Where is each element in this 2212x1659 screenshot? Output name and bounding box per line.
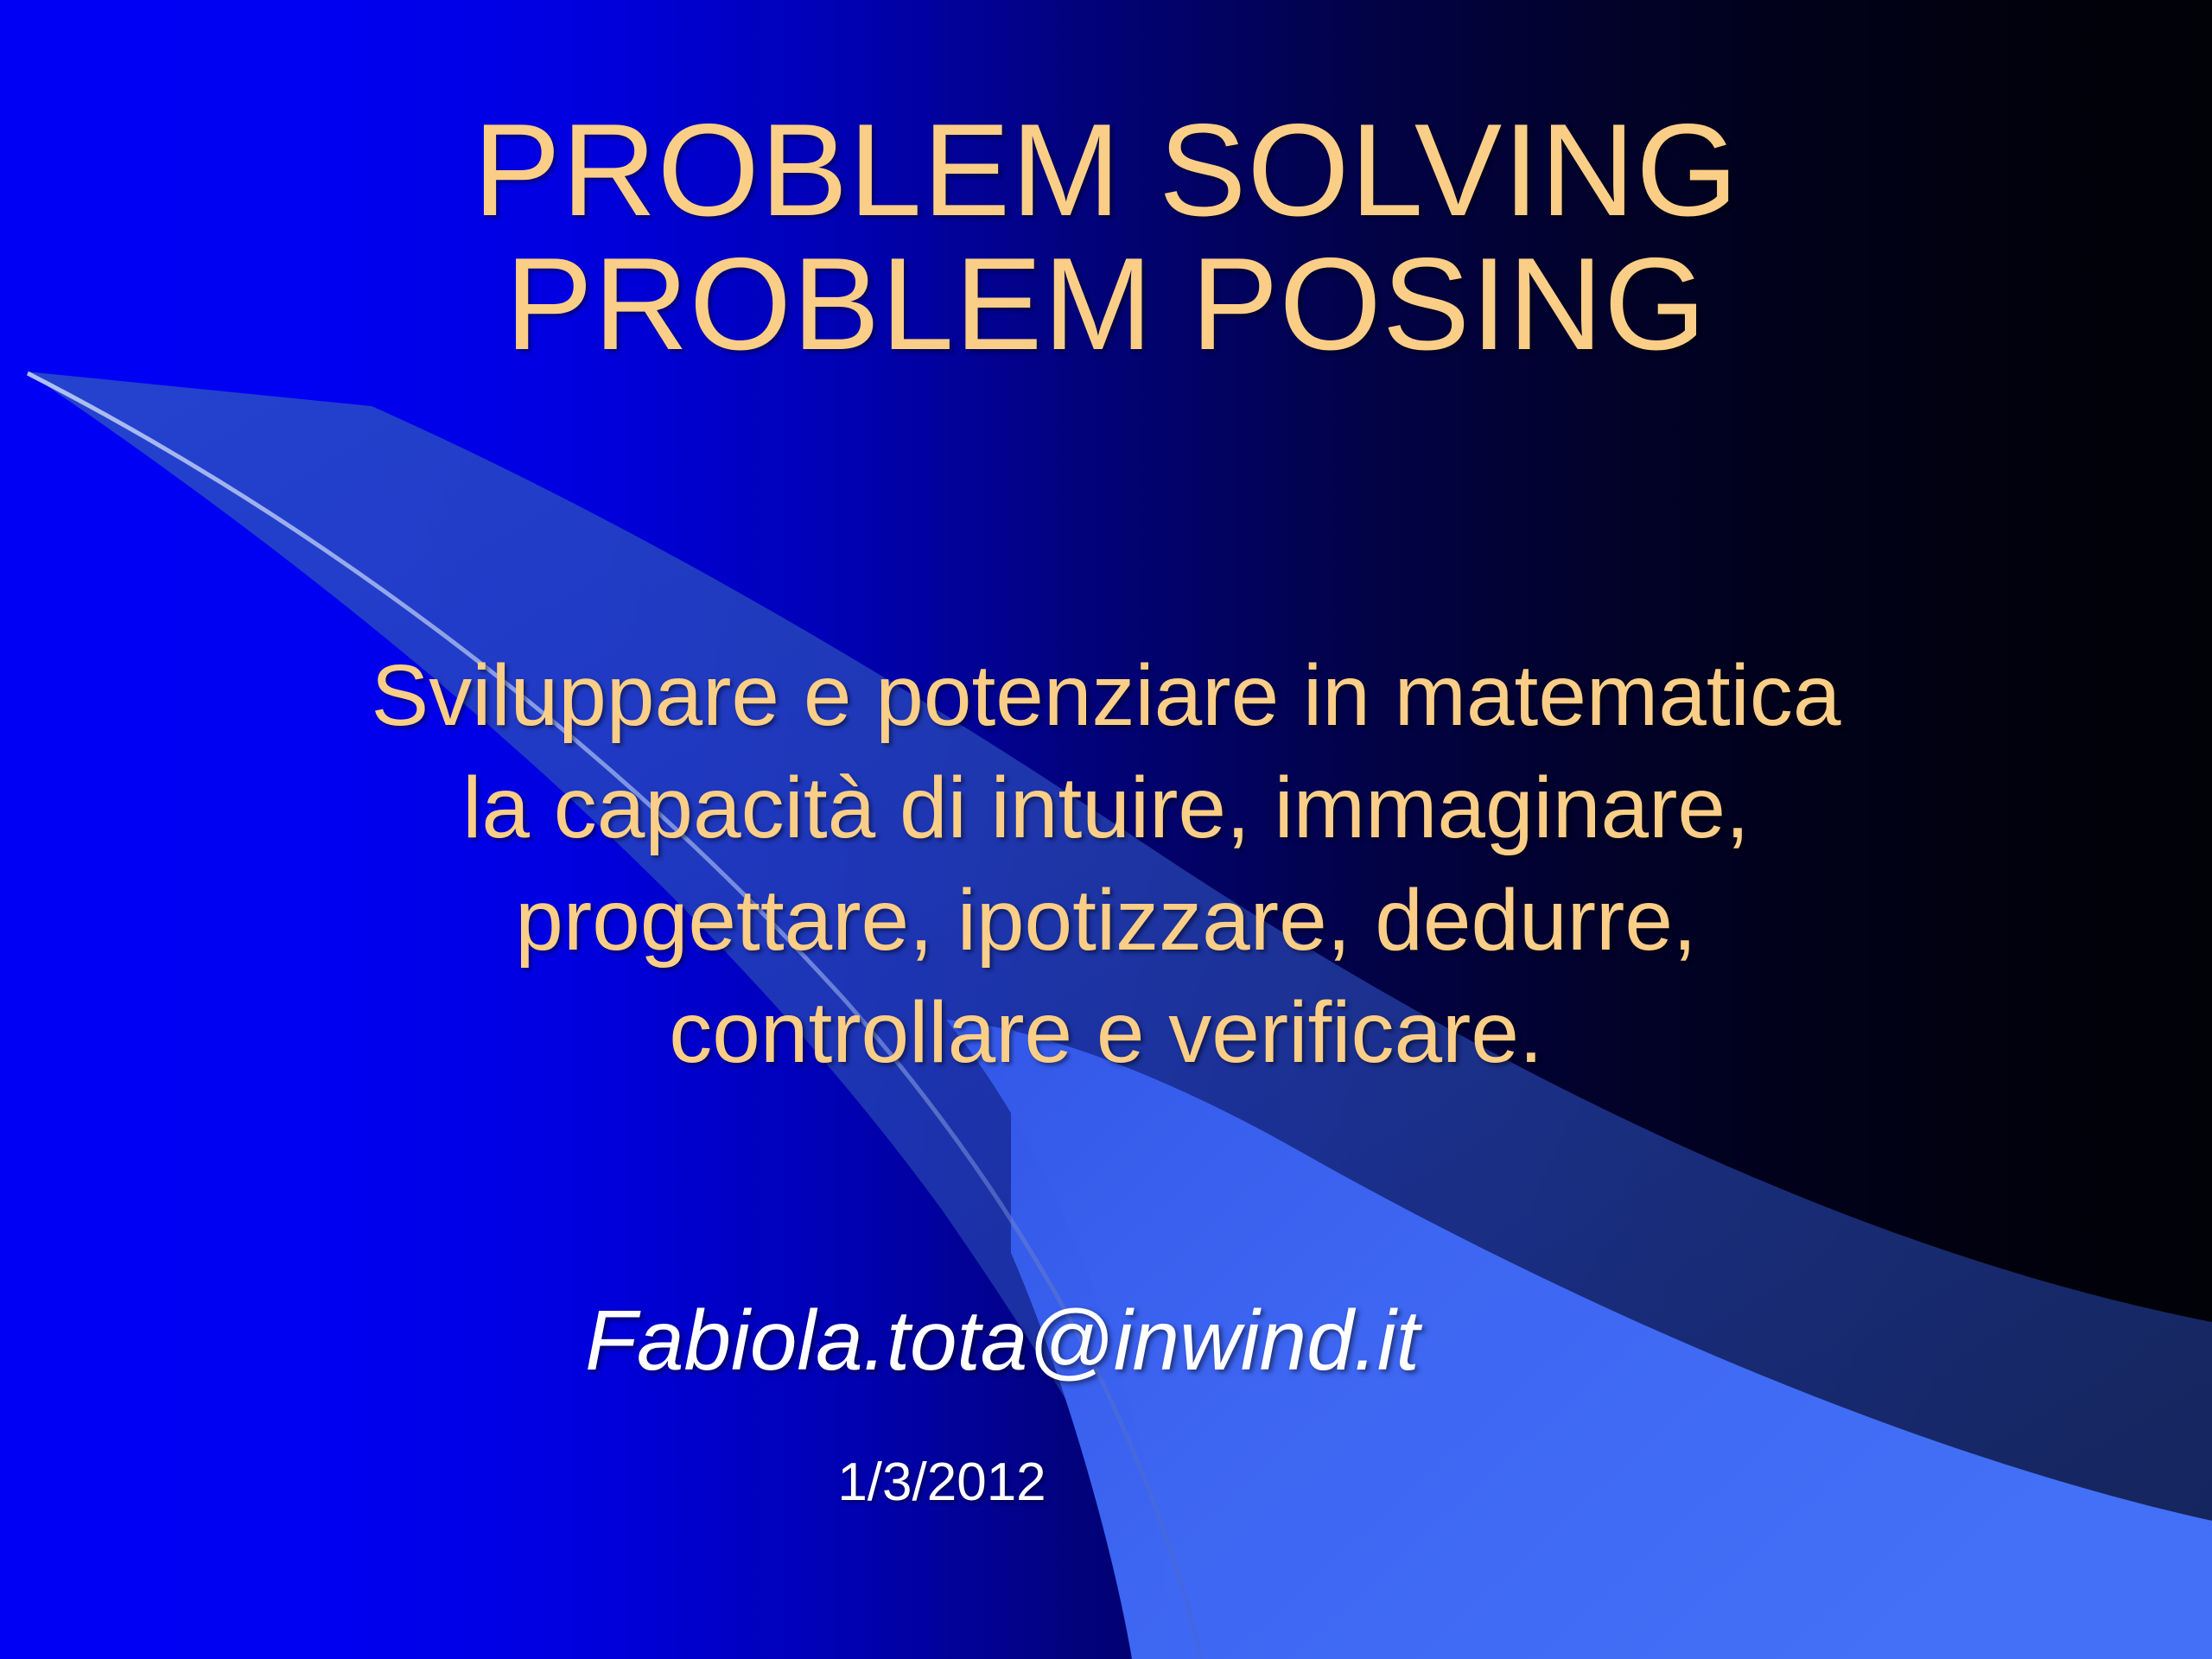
body-line-1: Sviluppare e potenziare in matematica	[0, 639, 2212, 752]
body-line-2: la capacità di intuire, immaginare,	[0, 752, 2212, 864]
presentation-slide: PROBLEM SOLVING PROBLEM POSING Sviluppar…	[0, 0, 2212, 1659]
title-line-2: PROBLEM POSING	[0, 238, 2212, 372]
body-line-3: progettare, ipotizzare, dedurre,	[0, 864, 2212, 976]
title-line-1: PROBLEM SOLVING	[0, 104, 2212, 238]
slide-content: PROBLEM SOLVING PROBLEM POSING Sviluppar…	[0, 0, 2212, 1659]
slide-date: 1/3/2012	[0, 1452, 2212, 1513]
slide-title: PROBLEM SOLVING PROBLEM POSING	[0, 104, 2212, 372]
slide-body: Sviluppare e potenziare in matematica la…	[0, 639, 2212, 1089]
body-line-4: controllare e verificare.	[0, 976, 2212, 1089]
contact-email[interactable]: Fabiola.tota@inwind.it	[0, 1292, 2212, 1389]
